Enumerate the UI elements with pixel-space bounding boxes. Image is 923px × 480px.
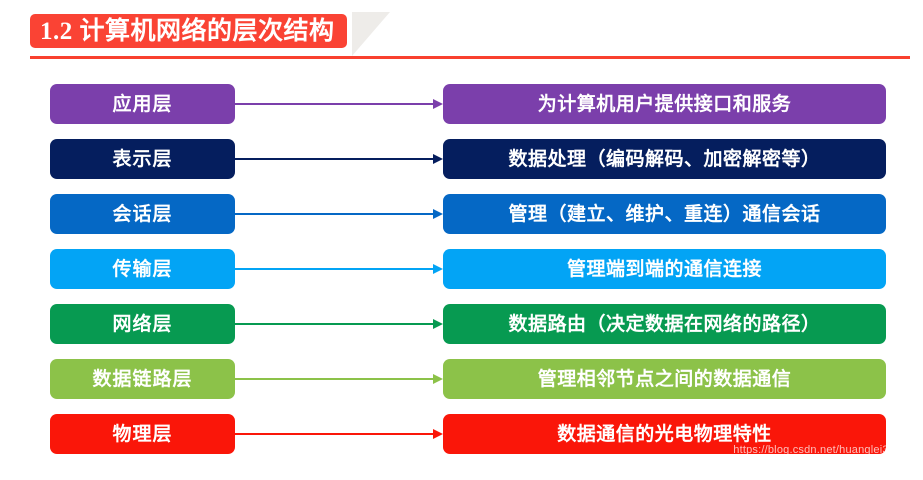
- arrow-line: [235, 323, 433, 325]
- layer-description-label: 数据处理（编码解码、加密解密等）: [508, 150, 820, 169]
- arrow-head-icon: [433, 374, 443, 384]
- title-divider-rule: [30, 56, 910, 59]
- page-title: 1.2 计算机网络的层次结构: [40, 19, 335, 44]
- layer-description-label: 管理（建立、维护、重连）通信会话: [508, 205, 820, 224]
- watermark-text: https://blog.csdn.net/huanglei30: [733, 444, 895, 456]
- arrow-connector: [235, 378, 443, 380]
- layer-name-label: 表示层: [112, 150, 172, 169]
- layer-description-label: 管理相邻节点之间的数据通信: [538, 370, 792, 389]
- layer-name-label: 网络层: [112, 315, 172, 334]
- arrow-head-icon: [433, 99, 443, 109]
- layer-description-box[interactable]: 数据处理（编码解码、加密解密等）: [443, 139, 886, 179]
- layer-description-label: 数据通信的光电物理特性: [557, 425, 772, 444]
- layer-description-box[interactable]: 数据路由（决定数据在网络的路径）: [443, 304, 886, 344]
- layer-description-box[interactable]: 管理端到端的通信连接: [443, 249, 886, 289]
- osi-layer-diagram: 应用层为计算机用户提供接口和服务表示层数据处理（编码解码、加密解密等）会话层管理…: [0, 62, 923, 462]
- arrow-head-icon: [433, 429, 443, 439]
- arrow-connector: [235, 323, 443, 325]
- arrow-line: [235, 213, 433, 215]
- layer-name-label: 传输层: [112, 260, 172, 279]
- arrow-head-icon: [433, 264, 443, 274]
- layer-row: 表示层数据处理（编码解码、加密解密等）: [0, 139, 923, 179]
- layer-name-box[interactable]: 传输层: [50, 249, 235, 289]
- layer-row: 传输层管理端到端的通信连接: [0, 249, 923, 289]
- layer-description-label: 数据路由（决定数据在网络的路径）: [508, 315, 820, 334]
- layer-description-box[interactable]: 为计算机用户提供接口和服务: [443, 84, 886, 124]
- arrow-line: [235, 378, 433, 380]
- layer-name-box[interactable]: 网络层: [50, 304, 235, 344]
- layer-name-label: 应用层: [112, 95, 172, 114]
- arrow-connector: [235, 213, 443, 215]
- arrow-line: [235, 158, 433, 160]
- arrow-head-icon: [433, 154, 443, 164]
- layer-description-box[interactable]: 管理（建立、维护、重连）通信会话: [443, 194, 886, 234]
- arrow-connector: [235, 158, 443, 160]
- layer-name-box[interactable]: 应用层: [50, 84, 235, 124]
- layer-description-box[interactable]: 管理相邻节点之间的数据通信: [443, 359, 886, 399]
- layer-row: 会话层管理（建立、维护、重连）通信会话: [0, 194, 923, 234]
- arrow-line: [235, 268, 433, 270]
- layer-description-label: 管理端到端的通信连接: [567, 260, 762, 279]
- arrow-connector: [235, 433, 443, 435]
- layer-description-label: 为计算机用户提供接口和服务: [538, 95, 792, 114]
- arrow-connector: [235, 268, 443, 270]
- arrow-head-icon: [433, 209, 443, 219]
- arrow-line: [235, 433, 433, 435]
- layer-name-box[interactable]: 物理层: [50, 414, 235, 454]
- layer-row: 应用层为计算机用户提供接口和服务: [0, 84, 923, 124]
- layer-name-label: 物理层: [112, 425, 172, 444]
- arrow-line: [235, 103, 433, 105]
- arrow-connector: [235, 103, 443, 105]
- layer-row: 数据链路层管理相邻节点之间的数据通信: [0, 359, 923, 399]
- layer-name-label: 会话层: [112, 205, 172, 224]
- layer-name-box[interactable]: 会话层: [50, 194, 235, 234]
- layer-name-box[interactable]: 数据链路层: [50, 359, 235, 399]
- slide-header: 1.2 计算机网络的层次结构: [0, 0, 923, 62]
- layer-name-label: 数据链路层: [92, 370, 192, 389]
- title-banner: 1.2 计算机网络的层次结构: [30, 14, 347, 48]
- title-ribbon-tail: [352, 12, 390, 56]
- arrow-head-icon: [433, 319, 443, 329]
- layer-name-box[interactable]: 表示层: [50, 139, 235, 179]
- layer-row: 网络层数据路由（决定数据在网络的路径）: [0, 304, 923, 344]
